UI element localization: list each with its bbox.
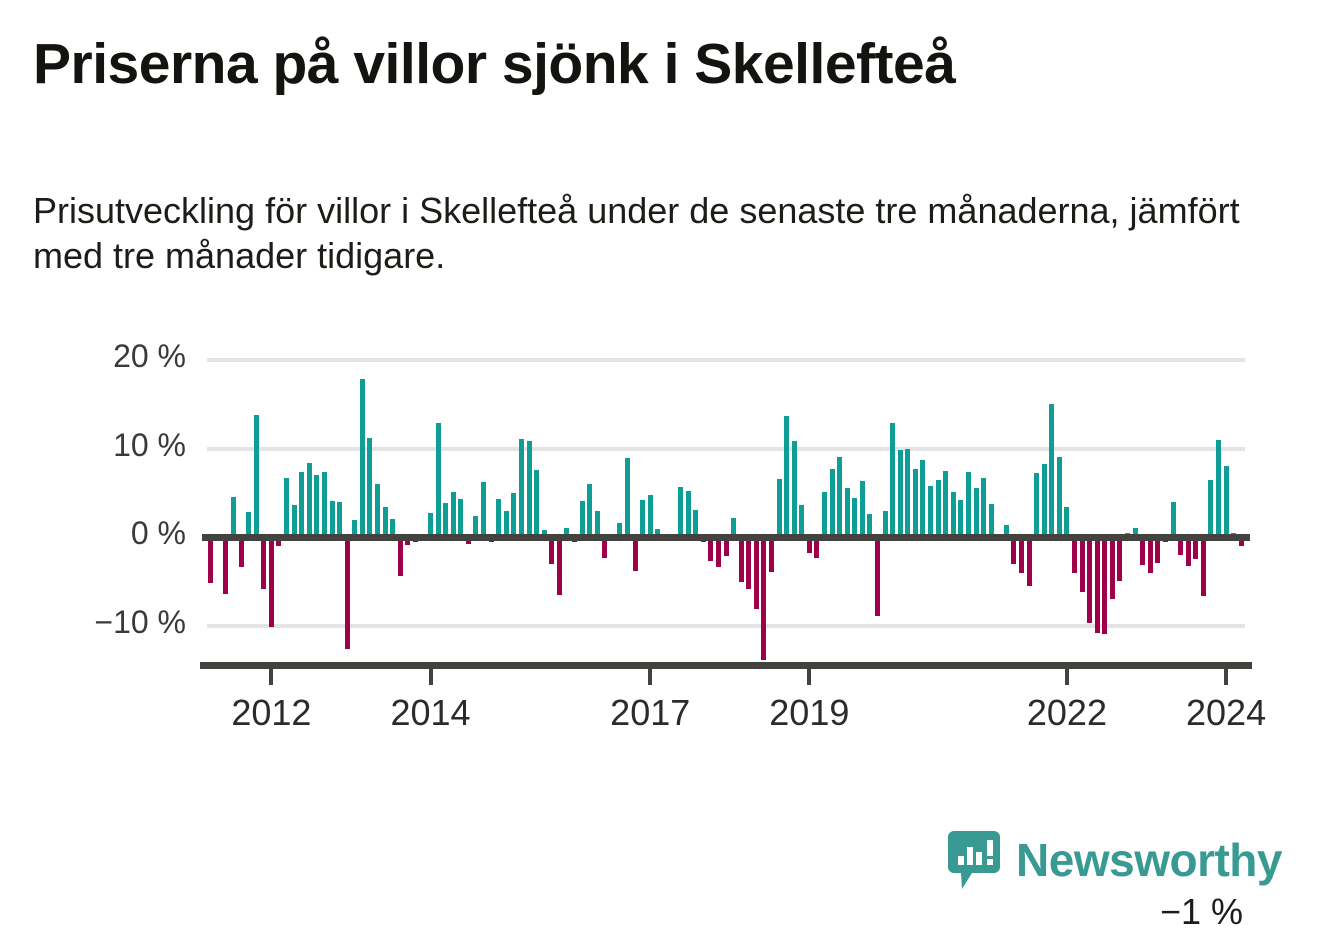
bar	[678, 487, 683, 537]
bar	[322, 472, 327, 537]
bar	[1072, 537, 1077, 572]
bar	[208, 537, 213, 583]
bar	[746, 537, 751, 589]
zero-axis-line	[202, 534, 1250, 541]
bar	[1117, 537, 1122, 581]
bar	[648, 495, 653, 538]
bar	[777, 479, 782, 537]
bar	[1216, 440, 1221, 537]
page-title: Priserna på villor sjönk i Skellefteå	[33, 34, 1283, 96]
bar	[784, 416, 789, 537]
bar	[1186, 537, 1191, 566]
bar	[799, 505, 804, 537]
bar	[1095, 537, 1100, 633]
logo-wordmark: Newsworthy	[1016, 833, 1282, 887]
bar	[989, 504, 994, 537]
bar	[1049, 404, 1054, 537]
bar	[360, 379, 365, 537]
bar	[1019, 537, 1024, 573]
x-axis-tick-label: 2014	[390, 692, 470, 734]
bar	[292, 505, 297, 537]
bar	[1064, 507, 1069, 537]
x-axis-tick	[807, 669, 811, 685]
bar	[557, 537, 562, 595]
bar	[951, 492, 956, 537]
bar	[1027, 537, 1032, 586]
x-axis-tick-label: 2022	[1027, 692, 1107, 734]
x-axis-tick-label: 2017	[610, 692, 690, 734]
bar	[595, 511, 600, 538]
last-value-annotation: −1 %	[1160, 891, 1243, 933]
bar	[231, 497, 236, 537]
bar	[898, 450, 903, 537]
bar	[625, 458, 630, 537]
bar	[458, 499, 463, 537]
bar	[920, 460, 925, 537]
newsworthy-logo: Newsworthy	[946, 829, 1282, 891]
bar	[1034, 473, 1039, 537]
bar	[511, 493, 516, 537]
bar	[739, 537, 744, 582]
bar	[1080, 537, 1085, 592]
x-axis-tick-label: 2012	[231, 692, 311, 734]
bar	[314, 475, 319, 537]
bar	[936, 480, 941, 537]
bar	[822, 492, 827, 537]
x-axis-tick	[1224, 669, 1228, 685]
bar	[913, 469, 918, 537]
bar	[587, 484, 592, 537]
bar	[383, 507, 388, 537]
x-axis-tick-label: 2019	[769, 692, 849, 734]
bar	[830, 469, 835, 537]
bar	[837, 457, 842, 538]
bar-chart: 20 %10 %0 %−10 % 20122014201720192022202…	[0, 340, 1322, 740]
bar	[1224, 466, 1229, 537]
bar	[307, 463, 312, 537]
y-axis-tick-label: 10 %	[26, 427, 186, 464]
bar	[367, 438, 372, 537]
bar	[769, 537, 774, 572]
bar	[330, 501, 335, 537]
bar	[1140, 537, 1145, 565]
bar	[527, 441, 532, 538]
bar	[504, 511, 509, 538]
bar	[443, 503, 448, 537]
bar	[974, 488, 979, 537]
bar	[451, 492, 456, 537]
bar-series	[207, 360, 1245, 670]
bar	[223, 537, 228, 594]
bar	[481, 482, 486, 537]
bar	[693, 510, 698, 537]
bar	[254, 415, 259, 537]
bar	[686, 491, 691, 537]
bar	[640, 500, 645, 537]
bar	[345, 537, 350, 649]
bar	[519, 439, 524, 537]
bar	[269, 537, 274, 627]
bar	[1102, 537, 1107, 634]
bar	[337, 502, 342, 537]
bar	[875, 537, 880, 616]
bar	[436, 423, 441, 537]
bar	[943, 471, 948, 537]
bar	[284, 478, 289, 537]
x-axis-tick	[269, 669, 273, 685]
bar	[890, 423, 895, 537]
infographic-page: Priserna på villor sjönk i Skellefteå Pr…	[0, 0, 1322, 939]
y-axis-tick-label: 20 %	[26, 338, 186, 375]
bar	[398, 537, 403, 576]
y-axis-tick-label: −10 %	[26, 604, 186, 641]
bar	[496, 499, 501, 537]
bar	[1171, 502, 1176, 537]
bar	[1110, 537, 1115, 599]
y-axis-tick-label: 0 %	[26, 515, 186, 552]
bar	[761, 537, 766, 660]
bar	[981, 478, 986, 537]
bar	[239, 537, 244, 567]
bar	[1057, 457, 1062, 537]
x-axis-tick-label: 2024	[1186, 692, 1266, 734]
bar	[852, 498, 857, 537]
bar	[534, 470, 539, 537]
bar	[580, 501, 585, 537]
bar	[1087, 537, 1092, 623]
x-axis-tick	[1065, 669, 1069, 685]
bar	[928, 486, 933, 537]
bar	[958, 500, 963, 537]
plot-area	[207, 360, 1245, 670]
bar	[860, 481, 865, 537]
bar	[375, 484, 380, 537]
x-axis-tick	[429, 669, 433, 685]
page-subtitle: Prisutveckling för villor i Skellefteå u…	[33, 188, 1243, 279]
bar	[1201, 537, 1206, 596]
x-axis-tick	[648, 669, 652, 685]
bar	[966, 472, 971, 537]
bar	[1148, 537, 1153, 572]
bar	[299, 472, 304, 537]
bar	[1208, 480, 1213, 538]
bar	[792, 441, 797, 537]
bar	[845, 488, 850, 538]
bar	[1042, 464, 1047, 538]
bar	[716, 537, 721, 567]
bar	[633, 537, 638, 571]
bar	[754, 537, 759, 609]
bar	[905, 449, 910, 538]
speech-bubble-bar-chart-icon	[946, 829, 1002, 891]
bar	[261, 537, 266, 588]
